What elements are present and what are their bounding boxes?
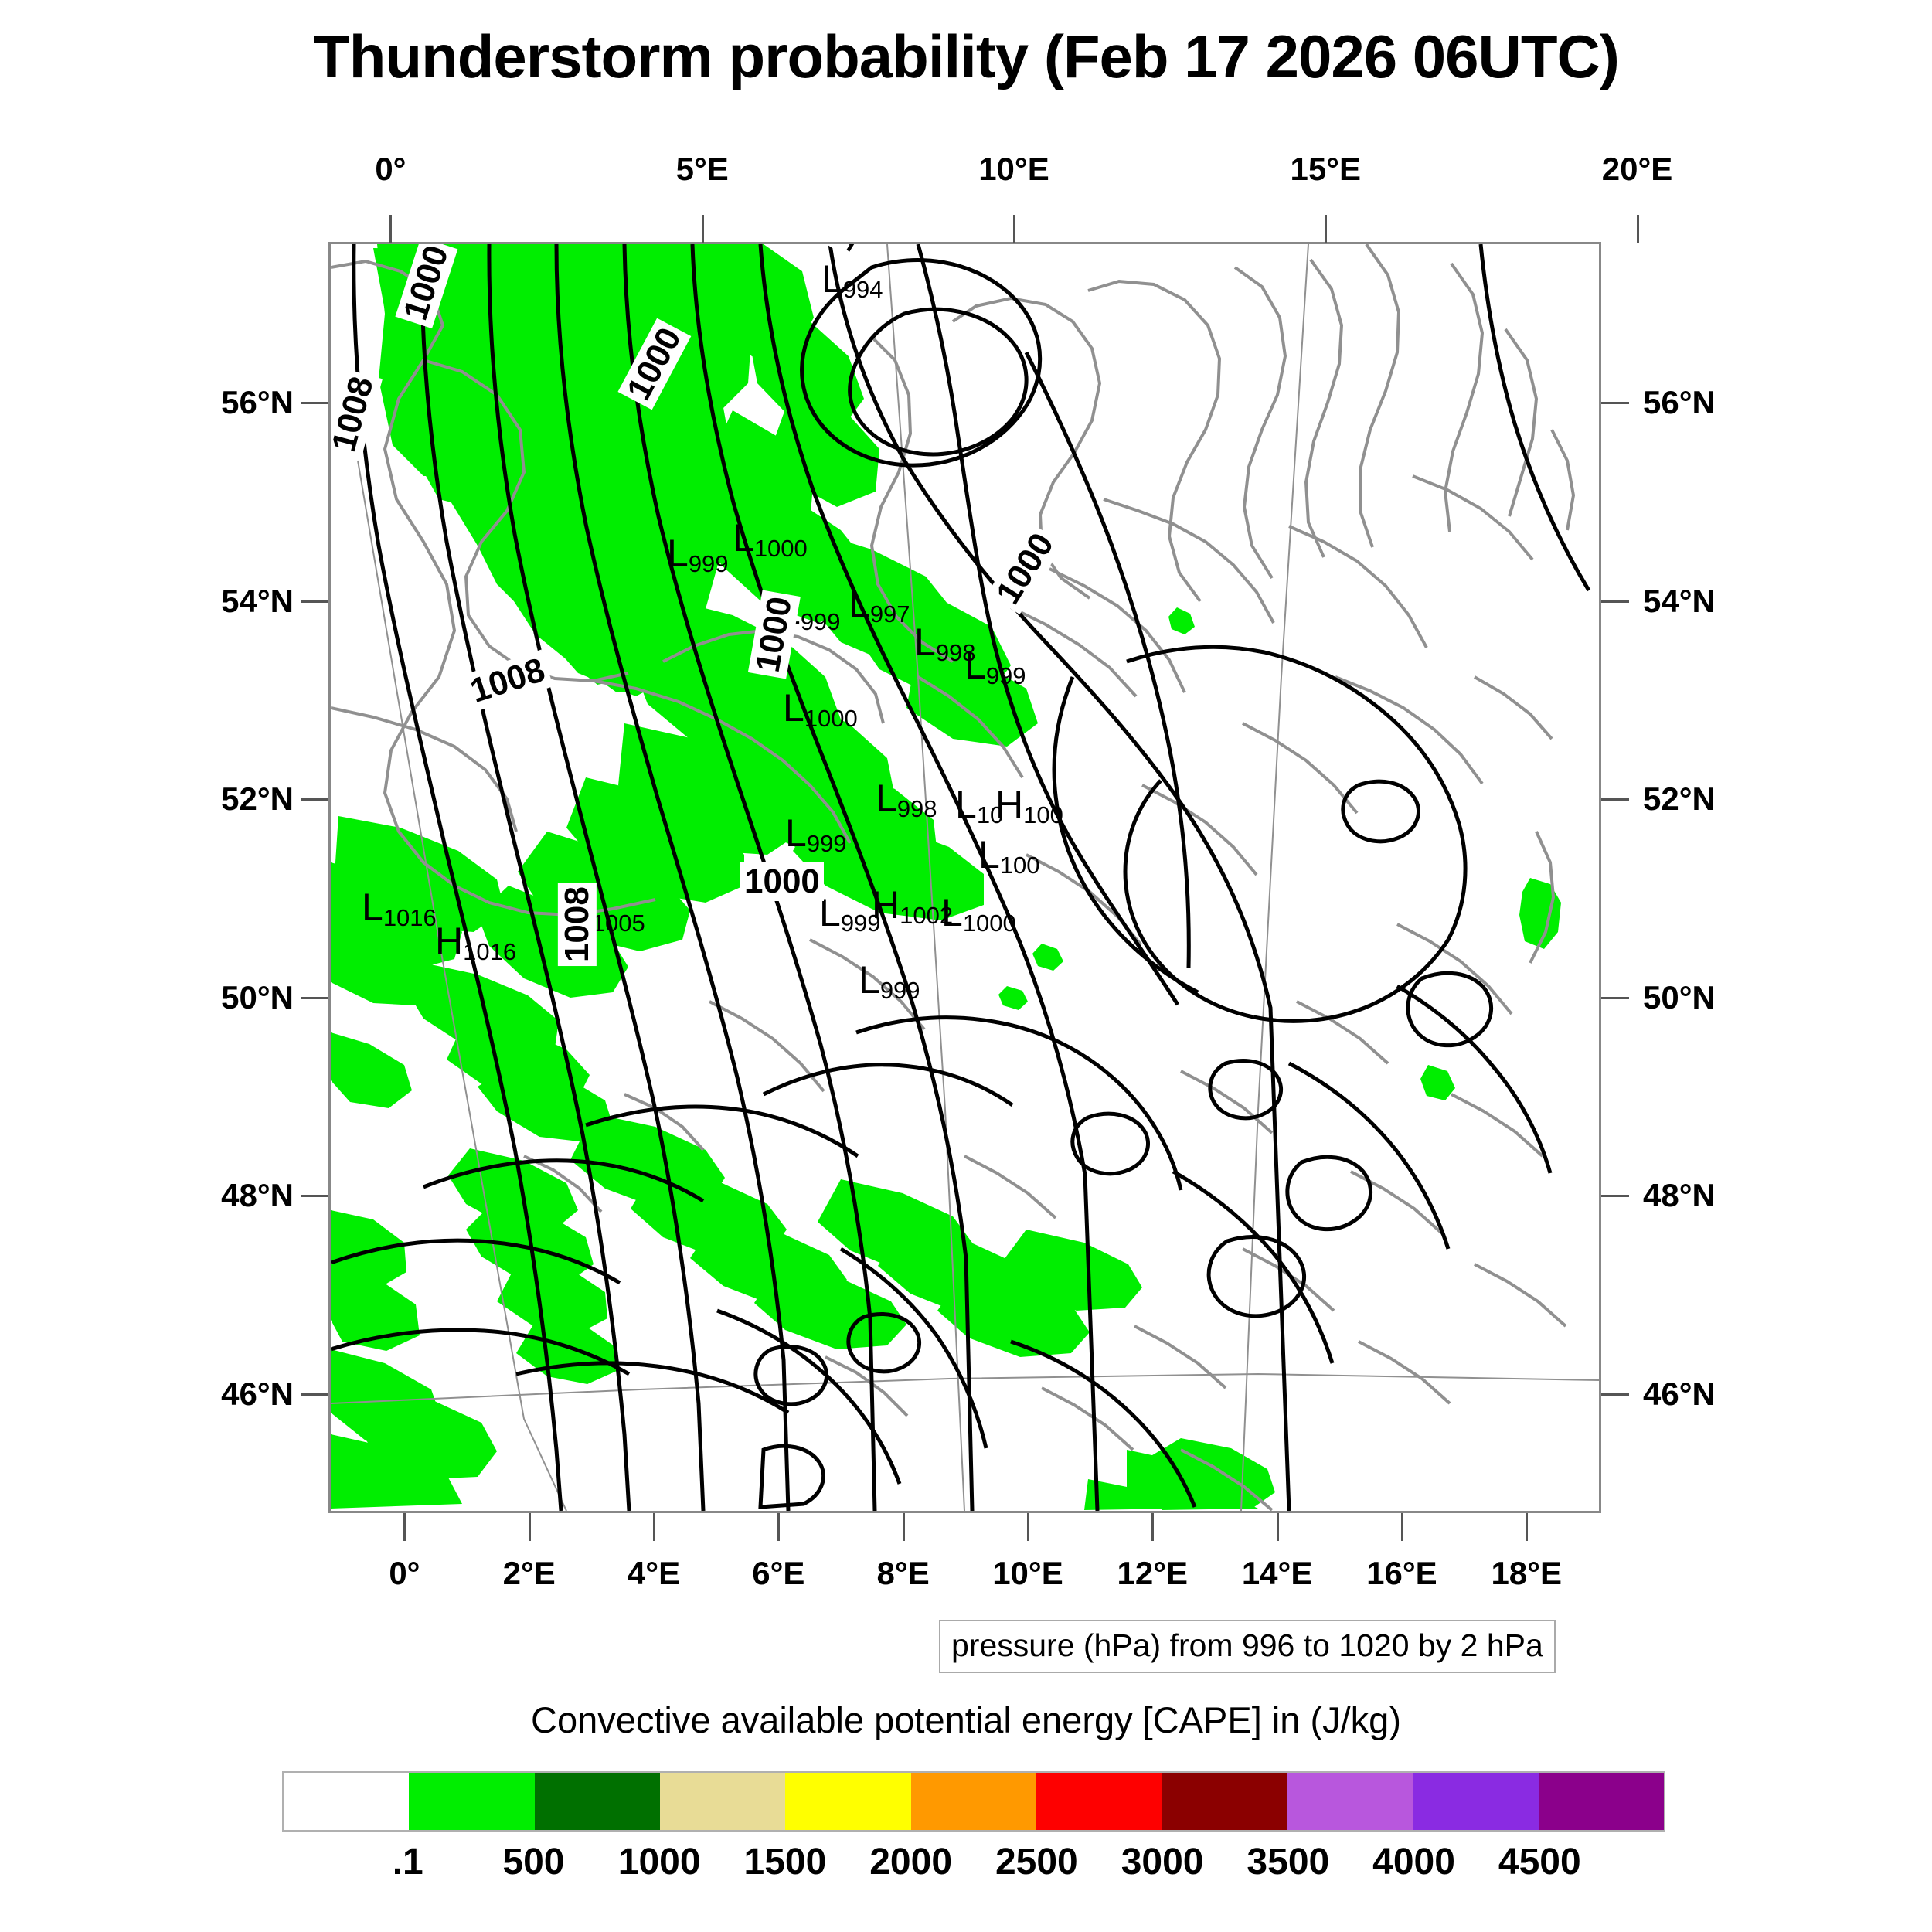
axis-tickmark-bottom-0 <box>403 1513 406 1541</box>
colorbar[interactable] <box>282 1771 1665 1832</box>
axis-tick-left-5: 46°N <box>178 1376 294 1413</box>
pressure-center-l-19: L999 <box>859 961 920 999</box>
colorbar-tick-0: .1 <box>393 1841 423 1883</box>
colorbar-tick-2: 1000 <box>618 1841 701 1883</box>
axis-tickmark-bottom-5 <box>1027 1513 1029 1541</box>
colorbar-swatch-8[interactable] <box>1287 1773 1413 1830</box>
pressure-center-l-6: L999 <box>964 646 1026 685</box>
page-title: Thunderstorm probability (Feb 17 2026 06… <box>0 22 1932 92</box>
axis-tick-top-2: 10°E <box>978 151 1049 188</box>
axis-tickmark-bottom-9 <box>1526 1513 1528 1541</box>
colorbar-tick-3: 1500 <box>744 1841 827 1883</box>
axis-tickmark-bottom-2 <box>653 1513 655 1541</box>
colorbar-tick-labels: .150010001500200025003000350040004500 <box>282 1841 1665 1887</box>
pressure-center-l-18: L1000 <box>941 893 1016 932</box>
axis-tick-bottom-3: 6°E <box>752 1555 804 1592</box>
axis-tick-left-0: 56°N <box>178 384 294 421</box>
axis-tick-bottom-4: 8°E <box>877 1555 930 1592</box>
axis-tick-top-1: 5°E <box>676 151 729 188</box>
axis-tickmark-right-4 <box>1601 1195 1629 1197</box>
colorbar-swatch-5[interactable] <box>911 1773 1036 1830</box>
pressure-center-l-2: L1000 <box>733 519 808 557</box>
axis-tickmark-right-5 <box>1601 1393 1629 1396</box>
axis-tickmark-left-3 <box>301 997 328 999</box>
colorbar-tick-5: 2500 <box>995 1841 1078 1883</box>
axis-tick-left-2: 52°N <box>178 781 294 818</box>
axis-tickmark-right-2 <box>1601 798 1629 801</box>
pressure-center-l-1: L999 <box>667 534 729 573</box>
axis-tickmark-bottom-1 <box>529 1513 531 1541</box>
axis-tickmark-bottom-4 <box>903 1513 905 1541</box>
axis-tick-top-3: 15°E <box>1290 151 1361 188</box>
pressure-center-h-10: H100 <box>995 785 1063 824</box>
colorbar-swatch-1[interactable] <box>409 1773 534 1830</box>
axis-tick-left-3: 50°N <box>178 979 294 1016</box>
axis-tick-top-0: 0° <box>375 151 406 188</box>
axis-tick-right-5: 46°N <box>1643 1376 1767 1413</box>
axis-tick-top-4: 20°E <box>1602 151 1673 188</box>
axis-tickmark-top-4 <box>1637 215 1639 243</box>
colorbar-swatch-9[interactable] <box>1413 1773 1538 1830</box>
axis-tick-right-1: 54°N <box>1643 583 1767 620</box>
pressure-center-l-7: L1000 <box>783 689 858 727</box>
contour-label-1000-7: 1000 <box>740 862 824 901</box>
colorbar-swatch-3[interactable] <box>660 1773 785 1830</box>
colorbar-tick-9: 4500 <box>1498 1841 1581 1883</box>
axis-tickmark-bottom-3 <box>777 1513 780 1541</box>
contour-label-1008-8: 1008 <box>558 883 597 966</box>
pressure-center-l-11: L999 <box>785 814 847 852</box>
axis-tick-left-4: 48°N <box>178 1177 294 1214</box>
axis-tickmark-right-1 <box>1601 600 1629 603</box>
axis-tickmark-left-0 <box>301 402 328 404</box>
axis-tickmark-top-3 <box>1325 215 1327 243</box>
axis-tickmark-left-1 <box>301 600 328 603</box>
axis-tickmark-bottom-6 <box>1151 1513 1154 1541</box>
colorbar-swatch-4[interactable] <box>785 1773 910 1830</box>
colorbar-tick-1: 500 <box>502 1841 564 1883</box>
pressure-center-l-12: L100 <box>978 835 1040 874</box>
colorbar-tick-4: 2000 <box>869 1841 952 1883</box>
pressure-center-l-13: L1016 <box>362 888 437 927</box>
axis-tick-right-4: 48°N <box>1643 1177 1767 1214</box>
pressure-legend: pressure (hPa) from 996 to 1020 by 2 hPa <box>939 1620 1556 1673</box>
axis-tickmark-top-0 <box>389 215 392 243</box>
axis-tick-bottom-0: 0° <box>389 1555 420 1592</box>
pressure-center-l-0: L994 <box>821 260 883 298</box>
axis-tick-bottom-6: 12°E <box>1117 1555 1189 1592</box>
map-graphic <box>331 244 1599 1511</box>
axis-tickmark-top-1 <box>702 215 704 243</box>
axis-tick-bottom-8: 16°E <box>1366 1555 1437 1592</box>
pressure-center-h-14: H1016 <box>435 922 516 961</box>
axis-tickmark-right-3 <box>1601 997 1629 999</box>
axis-tick-bottom-5: 10°E <box>992 1555 1063 1592</box>
colorbar-swatch-2[interactable] <box>535 1773 660 1830</box>
axis-tick-right-2: 52°N <box>1643 781 1767 818</box>
axis-tick-bottom-2: 4°E <box>628 1555 680 1592</box>
axis-tick-right-0: 56°N <box>1643 384 1767 421</box>
colorbar-swatch-7[interactable] <box>1162 1773 1287 1830</box>
cape-shading <box>331 244 1561 1510</box>
axis-tickmark-bottom-7 <box>1277 1513 1279 1541</box>
axis-tickmark-left-5 <box>301 1393 328 1396</box>
colorbar-swatch-0[interactable] <box>284 1773 409 1830</box>
colorbar-tick-7: 3500 <box>1247 1841 1329 1883</box>
axis-tickmark-top-2 <box>1013 215 1015 243</box>
axis-tick-bottom-9: 18°E <box>1491 1555 1562 1592</box>
axis-tickmark-right-0 <box>1601 402 1629 404</box>
colorbar-caption: Convective available potential energy [C… <box>0 1699 1932 1741</box>
axis-tick-bottom-1: 2°E <box>503 1555 556 1592</box>
axis-tick-left-1: 54°N <box>178 583 294 620</box>
map-plot-area[interactable]: L994L999L1000L999L997L998L999L1000L998L1… <box>328 242 1601 1513</box>
colorbar-tick-6: 3000 <box>1121 1841 1204 1883</box>
pressure-center-l-4: L997 <box>849 584 910 623</box>
colorbar-swatch-6[interactable] <box>1036 1773 1162 1830</box>
axis-tick-right-3: 50°N <box>1643 979 1767 1016</box>
axis-tickmark-left-2 <box>301 798 328 801</box>
colorbar-tick-8: 4000 <box>1372 1841 1455 1883</box>
axis-tickmark-bottom-8 <box>1401 1513 1403 1541</box>
pressure-center-l-8: L998 <box>876 779 937 818</box>
axis-tickmark-left-4 <box>301 1195 328 1197</box>
axis-tick-bottom-7: 14°E <box>1242 1555 1313 1592</box>
colorbar-swatch-10[interactable] <box>1539 1773 1664 1830</box>
